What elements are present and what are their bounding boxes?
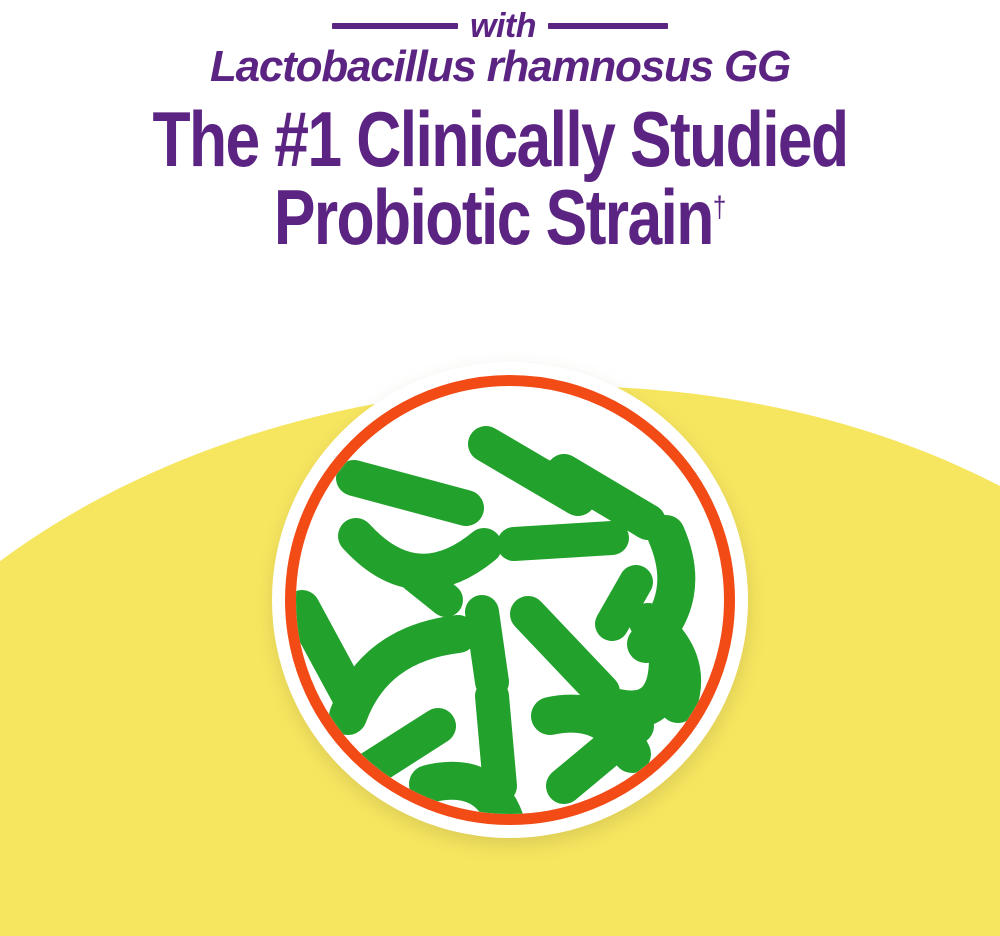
bacterium — [354, 478, 466, 508]
headline-line-2: Probiotic Strain — [274, 173, 713, 261]
species-name: Lactobacillus rhamnosus GG — [0, 44, 1000, 90]
petri-dish-culture-area — [296, 386, 724, 814]
eyebrow-word: with — [470, 9, 536, 43]
bacterium — [564, 726, 636, 786]
headline: The #1 Clinically Studied Probiotic Stra… — [100, 102, 900, 254]
bacterium — [528, 614, 602, 692]
footnote-dagger-icon: † — [713, 191, 726, 224]
bacterium — [348, 634, 458, 716]
eyebrow-rule-right — [548, 23, 668, 29]
bacterium — [482, 612, 492, 682]
bacteria-group — [296, 386, 724, 814]
headline-line-1: The #1 Clinically Studied — [152, 95, 847, 183]
petri-dish-illustration — [266, 358, 756, 848]
bacterium — [612, 582, 636, 624]
header-text-block: with Lactobacillus rhamnosus GG The #1 C… — [0, 0, 1000, 254]
bacterium — [514, 538, 612, 544]
bacterium — [618, 658, 668, 709]
headline-line-2-wrap: Probiotic Strain† — [100, 180, 900, 254]
bacterium — [416, 576, 446, 600]
eyebrow-row: with — [0, 6, 1000, 46]
bacterium — [492, 696, 500, 786]
eyebrow-rule-left — [332, 23, 458, 29]
poster-canvas: with Lactobacillus rhamnosus GG The #1 C… — [0, 0, 1000, 936]
